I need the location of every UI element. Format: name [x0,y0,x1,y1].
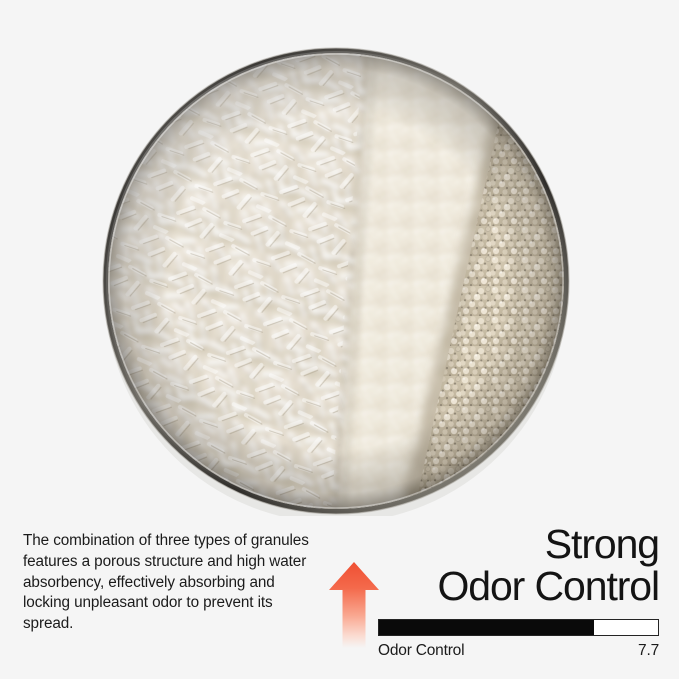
meter-fill-bar [379,620,594,635]
petri-dish-image [101,46,571,516]
odor-control-panel: Strong Odor Control Odor Control 7.7 [378,524,659,660]
headline: Strong Odor Control [378,524,659,606]
up-arrow-icon [327,560,381,648]
upward-trend-arrow [327,560,381,648]
dish-glass-sheen [106,51,566,511]
headline-line-2: Odor Control [378,566,659,606]
odor-control-meter [378,619,659,636]
meter-score: 7.7 [638,642,659,660]
feature-description: The combination of three types of granul… [23,531,323,635]
petri-dish-illustration [101,46,571,516]
headline-line-1: Strong [378,524,659,564]
product-feature-card: The combination of three types of granul… [0,0,679,679]
meter-labels: Odor Control 7.7 [378,642,659,660]
meter-label: Odor Control [378,642,464,660]
